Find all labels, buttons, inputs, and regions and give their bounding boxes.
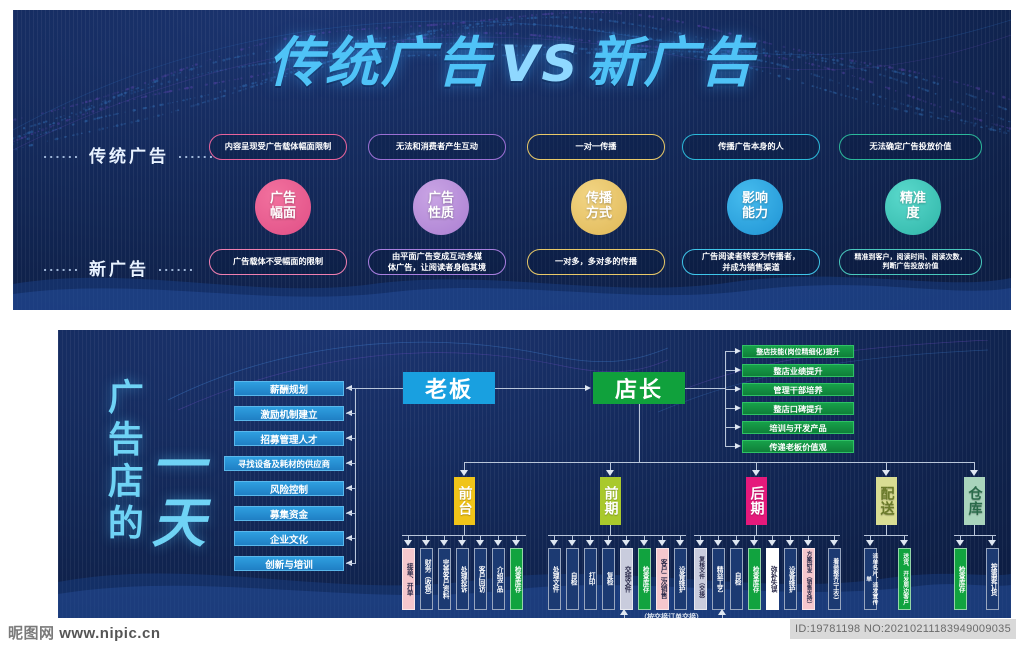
task-post-1[interactable]: 精益工艺 [712, 548, 725, 610]
task-pre-1[interactable]: 自检 [566, 548, 579, 610]
dept-header-postproduction[interactable]: 后期 [746, 477, 767, 525]
task-pre-0[interactable]: 处理文件 [548, 548, 561, 610]
task-warehouse-0[interactable]: 检查库存 [954, 548, 967, 610]
task-post-7[interactable]: 着装整齐(工衣) [828, 548, 841, 610]
new-pill-4-line1: 判断广告投放价值 [855, 262, 967, 271]
circle-4-line2: 度 [906, 207, 919, 222]
task-pre-4[interactable]: 交接文件 [620, 548, 633, 610]
manager-task-0[interactable]: 整店技能(岗位精细化)提升 [742, 345, 854, 358]
workflow-title-day: 一天 [146, 436, 200, 552]
task-frontdesk-5[interactable]: 介绍产品 [492, 548, 505, 610]
comparison-panel: 传统广告VS新广告 ······ 传统广告 ······ ······ 新广告 … [13, 10, 1011, 310]
task-delivery-1[interactable]: 送货、开发周边客户 [898, 548, 911, 610]
task-post-2[interactable]: 自检 [730, 548, 743, 610]
row-label-new: ······ 新广告 ······ [43, 255, 195, 280]
image-id-badge: ID:19781198 NO:20210211183949009035 [790, 619, 1016, 639]
new-pill-0[interactable]: 广告载体不受幅面的限制 [209, 249, 347, 275]
node-manager[interactable]: 店长 [593, 372, 685, 404]
boss-task-0[interactable]: 薪酬规划 [234, 381, 344, 396]
circle-2-line2: 方式 [586, 207, 612, 222]
task-warehouse-1[interactable]: 按需要订货 [986, 548, 999, 610]
old-pill-1[interactable]: 无法和消费者产生互动 [368, 134, 506, 160]
new-pill-1-line1: 体广告，让阅读者身临其境 [388, 262, 486, 273]
old-pill-1-label: 无法和消费者产生互动 [396, 141, 478, 152]
boss-task-7[interactable]: 创新与培训 [234, 556, 344, 571]
watermark-url: www.nipic.cn [59, 625, 160, 642]
old-pill-2-label: 一对一传播 [576, 141, 617, 152]
node-boss[interactable]: 老板 [403, 372, 495, 404]
circle-precision: 精准 度 [885, 179, 941, 235]
task-post-5[interactable]: 设备维护 [784, 548, 797, 610]
new-pill-1-line0: 由平面广告变成互动多媒 [388, 251, 486, 262]
manager-task-2[interactable]: 管理干部培养 [742, 383, 854, 396]
poster-canvas: 传统广告VS新广告 ······ 传统广告 ······ ······ 新广告 … [0, 0, 1024, 648]
circle-ad-format: 广告 幅面 [255, 179, 311, 235]
old-pill-4-label: 无法确定广告投放价值 [870, 141, 952, 152]
dept-header-preproduction[interactable]: 前期 [600, 477, 621, 525]
manager-task-3[interactable]: 整店口碑提升 [742, 402, 854, 415]
task-pre-3[interactable]: 复检 [602, 548, 615, 610]
circle-0-line1: 广告 [270, 192, 296, 207]
workflow-panel: 广告店的 一天 薪酬规划 激励机制建立 招募管理人才 寻找设备及耗材的供应商 风… [58, 330, 1011, 618]
new-pill-4-line0: 精准到客户，阅读时间、阅读次数， [855, 253, 967, 262]
task-frontdesk-4[interactable]: 客户回访 [474, 548, 487, 610]
title-right: 新广告 [587, 31, 755, 94]
poster-title: 传统广告VS新广告 [13, 36, 1011, 90]
new-pill-2-line0: 一对多，多对多的传播 [555, 256, 637, 267]
old-pill-4[interactable]: 无法确定广告投放价值 [839, 134, 982, 160]
task-post-4[interactable]: 弥补失误 [766, 548, 779, 610]
boss-task-2[interactable]: 招募管理人才 [234, 431, 344, 446]
new-pill-3-line0: 广告阅读者转变为传播者， [702, 251, 800, 262]
circle-1-line2: 性质 [428, 207, 454, 222]
manager-task-5[interactable]: 传递老板价值观 [742, 440, 854, 453]
dots-right-new: ······ [158, 264, 195, 277]
row-label-traditional-text: 传统广告 [89, 147, 169, 167]
circle-influence: 影响 能力 [727, 179, 783, 235]
watermark-brand: 昵图网 [8, 625, 55, 642]
task-frontdesk-0[interactable]: 接单、开单 [402, 548, 415, 610]
new-pill-3[interactable]: 广告阅读者转变为传播者， 并成为销售渠道 [682, 249, 820, 275]
task-pre-5[interactable]: 检查库存 [638, 548, 651, 610]
boss-task-3[interactable]: 寻找设备及耗材的供应商 [224, 456, 344, 471]
circle-4-line1: 精准 [900, 192, 926, 207]
circle-3-line1: 影响 [742, 192, 768, 207]
dept-header-frontdesk[interactable]: 前台 [454, 477, 475, 525]
circle-2-line1: 传播 [586, 192, 612, 207]
dots-left-new: ······ [43, 264, 80, 277]
boss-task-6[interactable]: 企业文化 [234, 531, 344, 546]
boss-task-1[interactable]: 激励机制建立 [234, 406, 344, 421]
dept-header-warehouse[interactable]: 仓库 [964, 477, 985, 525]
task-frontdesk-2[interactable]: 完善客户资料 [438, 548, 451, 610]
old-pill-3-label: 传播广告本身的人 [718, 141, 784, 152]
old-pill-2[interactable]: 一对一传播 [527, 134, 665, 160]
circle-3-line2: 能力 [742, 207, 768, 222]
circle-0-line2: 幅面 [270, 207, 296, 222]
task-post-6[interactable]: 方案研发（销售支持） [802, 548, 815, 610]
new-pill-1[interactable]: 由平面广告变成互动多媒 体广告，让阅读者身临其境 [368, 249, 506, 275]
row-label-new-text: 新广告 [89, 260, 149, 280]
title-left: 传统广告 [269, 31, 493, 94]
manager-task-4[interactable]: 培训与开发产品 [742, 421, 854, 434]
task-pre-7[interactable]: 设备维护 [674, 548, 687, 610]
old-pill-0[interactable]: 内容呈现受广告载体幅面限制 [209, 134, 347, 160]
dept-header-delivery[interactable]: 配送 [876, 477, 897, 525]
old-pill-0-label: 内容呈现受广告载体幅面限制 [225, 141, 331, 152]
new-pill-3-line1: 并成为销售渠道 [702, 262, 800, 273]
task-frontdesk-1[interactable]: 财务（收银） [420, 548, 433, 610]
manager-task-1[interactable]: 整店业绩提升 [742, 364, 854, 377]
title-vs: VS [501, 35, 580, 93]
task-pre-6[interactable]: 客户二次销售 [656, 548, 669, 610]
circle-spread-method: 传播 方式 [571, 179, 627, 235]
boss-task-5[interactable]: 募集资金 [234, 506, 344, 521]
old-pill-3[interactable]: 传播广告本身的人 [682, 134, 820, 160]
new-pill-2[interactable]: 一对多，多对多的传播 [527, 249, 665, 275]
circle-ad-nature: 广告 性质 [413, 179, 469, 235]
task-frontdesk-6[interactable]: 检查库存 [510, 548, 523, 610]
dots-left-old: ······ [43, 151, 80, 164]
boss-task-4[interactable]: 风险控制 [234, 481, 344, 496]
new-pill-0-line0: 广告载体不受幅面的限制 [233, 256, 323, 267]
task-pre-2[interactable]: 打印 [584, 548, 597, 610]
task-delivery-0[interactable]: 派单名片、派发宣传单 [864, 548, 877, 610]
circle-1-line1: 广告 [428, 192, 454, 207]
watermark: 昵图网 www.nipic.cn [8, 622, 160, 643]
workflow-title-column: 广告店的 [102, 378, 141, 546]
task-post-0[interactable]: 复核文件（交接） [694, 548, 707, 610]
task-post-3[interactable]: 检查库存 [748, 548, 761, 610]
task-frontdesk-3[interactable]: 处理投诉 [456, 548, 469, 610]
row-label-traditional: ······ 传统广告 ······ [43, 142, 215, 167]
new-pill-4[interactable]: 精准到客户，阅读时间、阅读次数， 判断广告投放价值 [839, 249, 982, 275]
